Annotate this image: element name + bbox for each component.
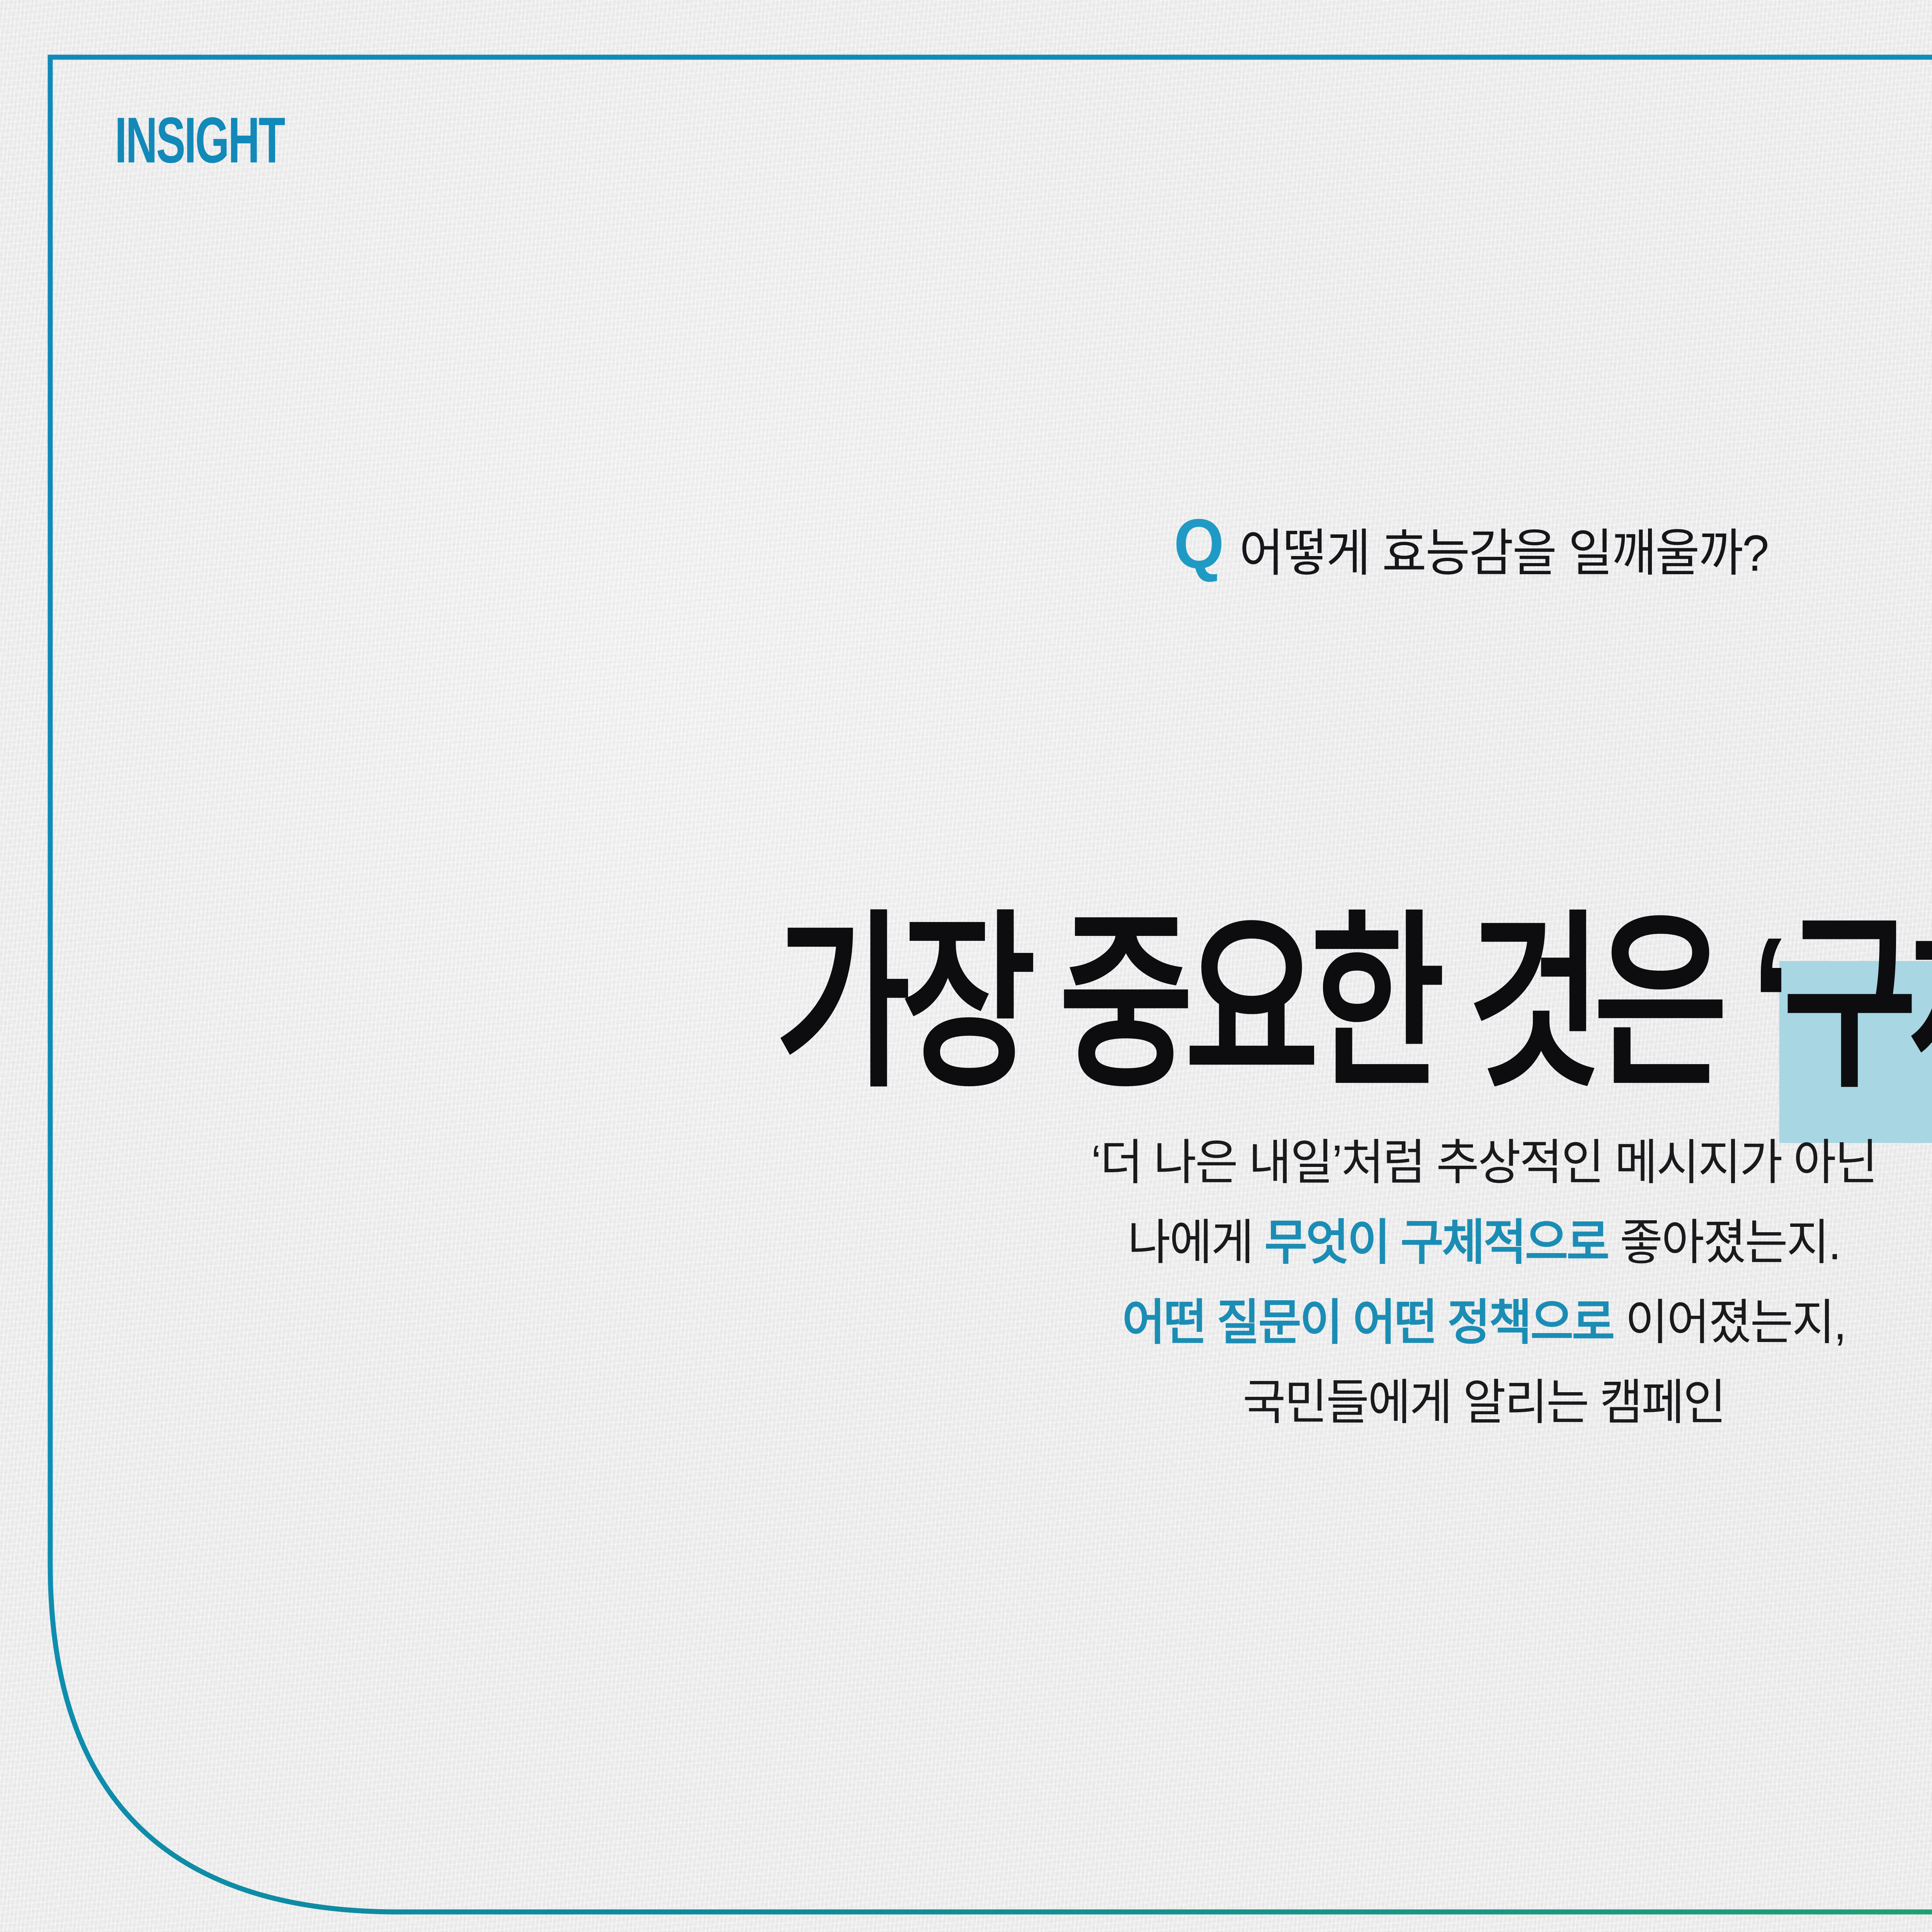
slide-canvas: INSIGHT Q 어떻게 효능감을 일깨울까? 가장 중요한 것은 ‘구체성’… <box>0 0 1932 1932</box>
page-headline: 가장 중요한 것은 ‘구체성’ <box>776 907 1932 1100</box>
body-line-2-prefix: 나에게 <box>1128 1215 1264 1270</box>
body-line-1-text: ‘더 나은 내일’처럼 추상적인 메시지가 아닌 <box>1091 1135 1877 1190</box>
headline-prefix: 가장 중요한 것은 ‘ <box>776 898 1783 1109</box>
body-line-2: 나에게 무엇이 구체적으로 좋아졌는지. <box>60 1202 1932 1282</box>
body-line-3-suffix: 이어졌는지, <box>1614 1295 1845 1350</box>
insight-logo: INSIGHT <box>115 108 284 173</box>
body-copy: ‘더 나은 내일’처럼 추상적인 메시지가 아닌 나에게 무엇이 구체적으로 좋… <box>0 1122 1932 1442</box>
body-line-1: ‘더 나은 내일’처럼 추상적인 메시지가 아닌 <box>60 1122 1932 1202</box>
q-marker-icon: Q <box>1174 509 1224 579</box>
question-eyebrow: Q 어떻게 효능감을 일깨울까? <box>0 518 1932 588</box>
eyebrow-question-text: 어떻게 효능감을 일깨울까? <box>1239 528 1768 579</box>
body-line-2-emphasis: 무엇이 구체적으로 <box>1264 1215 1608 1270</box>
headline-highlight-term: 구체성 <box>1783 907 1932 1100</box>
body-line-2-suffix: 좋아졌는지. <box>1608 1215 1840 1270</box>
body-line-4-text: 국민들에게 알리는 캠페인 <box>1243 1375 1725 1430</box>
body-line-3-emphasis: 어떤 질문이 어떤 정책으로 <box>1122 1295 1613 1350</box>
body-line-4: 국민들에게 알리는 캠페인 <box>60 1362 1932 1442</box>
body-line-3: 어떤 질문이 어떤 정책으로 이어졌는지, <box>60 1282 1932 1362</box>
